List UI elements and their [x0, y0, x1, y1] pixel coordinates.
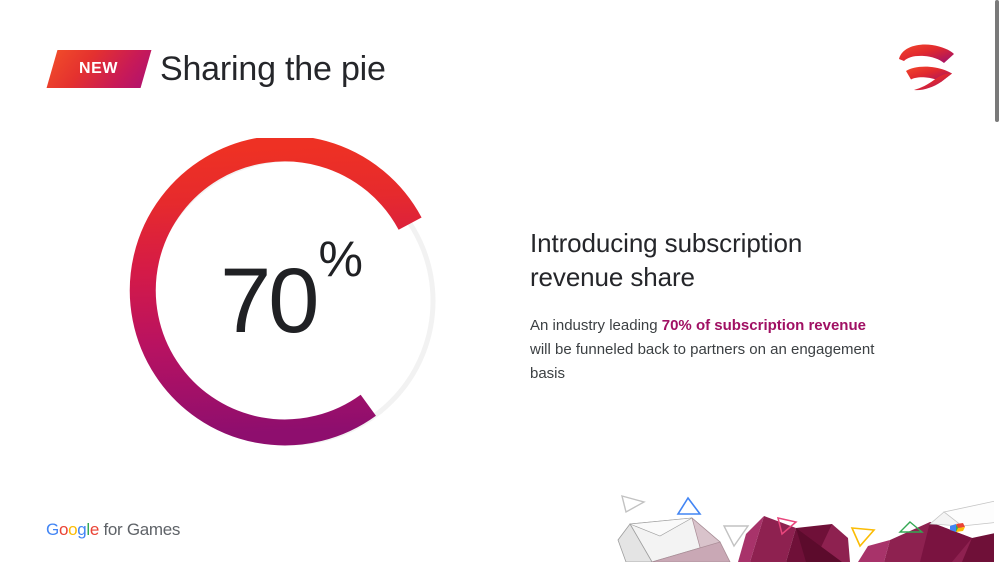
copy-body-lead: An industry leading [530, 317, 662, 334]
triangle-outline-blue [678, 498, 700, 514]
google-for-games-logo: Google for Games [46, 520, 180, 540]
logo-letter-g1: G [46, 520, 59, 539]
copy-body-emphasis: 70% of subscription revenue [662, 317, 866, 334]
scrollbar-thumb[interactable] [995, 0, 999, 122]
donut-chart: 70 % [128, 138, 454, 464]
stadia-logo [892, 42, 958, 94]
logo-letter-e: e [90, 520, 99, 539]
white-plane-shape [930, 500, 1000, 526]
slide-header: NEW Sharing the pie [0, 0, 1000, 120]
copy-heading: Introducing subscription revenue share [530, 226, 890, 294]
scrollbar-track[interactable] [994, 0, 1000, 562]
triangle-outline-green [900, 522, 922, 532]
low-poly-geometric-art [600, 480, 1000, 562]
new-badge-label: NEW [79, 61, 118, 77]
donut-percent-sign: % [318, 234, 361, 284]
triangle-outline-grey [622, 496, 644, 512]
triangle-outline-grey-2 [724, 526, 748, 546]
maroon-polygons-center [738, 516, 850, 562]
logo-letter-o2: o [68, 520, 77, 539]
google-play-mark [950, 523, 965, 532]
new-badge: NEW [47, 50, 152, 88]
grey-polyhedron [618, 518, 730, 562]
copy-body-tail: will be funneled back to partners on an … [530, 341, 874, 382]
triangle-outline-pink [778, 518, 796, 534]
copy-body: An industry leading 70% of subscription … [530, 314, 890, 386]
page-title: Sharing the pie [160, 48, 386, 90]
donut-center-value: 70 % [128, 138, 454, 464]
copy-block: Introducing subscription revenue share A… [530, 226, 890, 386]
presentation-slide: NEW Sharing the pie [0, 0, 1000, 562]
triangle-outline-yellow [852, 528, 874, 546]
donut-number: 70 [220, 255, 316, 347]
logo-suffix: for Games [99, 520, 180, 539]
logo-letter-o1: o [59, 520, 68, 539]
maroon-polygons-right [858, 522, 1000, 562]
